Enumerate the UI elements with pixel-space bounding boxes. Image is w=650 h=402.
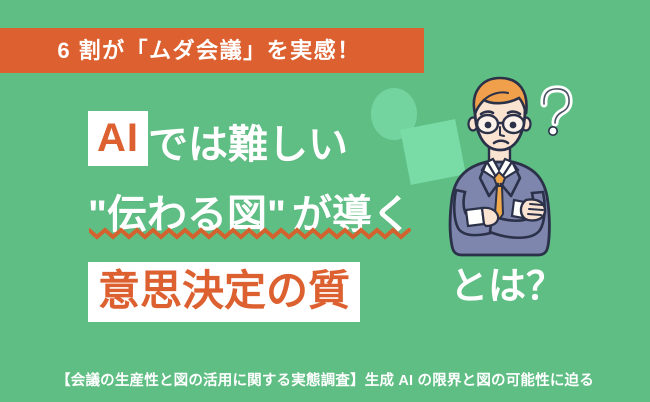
eyebrow-label: 6 割が「ムダ会議」を実感！ <box>57 40 360 62</box>
caption-bar: 【会議の生産性と図の活用に関する実態調査】生成 AI の限界と図の可能性に迫る <box>0 356 650 402</box>
headline-line-1-rest: では難しい <box>148 124 348 166</box>
promo-banner: 6 割が「ムダ会議」を実感！ AI では難しい " 伝わる図 " が導く 意思決… <box>0 0 650 402</box>
businessman-thinking-illustration: .ol { fill:none; stroke:#2B3148; stroke-… <box>442 74 632 274</box>
question-mark-icon <box>544 89 569 135</box>
eyebrow-banner: 6 割が「ムダ会議」を実感！ <box>0 28 424 73</box>
zigzag-underline-icon <box>89 226 411 240</box>
headline-chip-ai: AI <box>88 111 148 166</box>
caption-label: 【会議の生産性と図の活用に関する実態調査】生成 AI の限界と図の可能性に迫る <box>56 369 594 390</box>
headline-chip-decision-quality: 意思決定の質 <box>88 262 360 322</box>
